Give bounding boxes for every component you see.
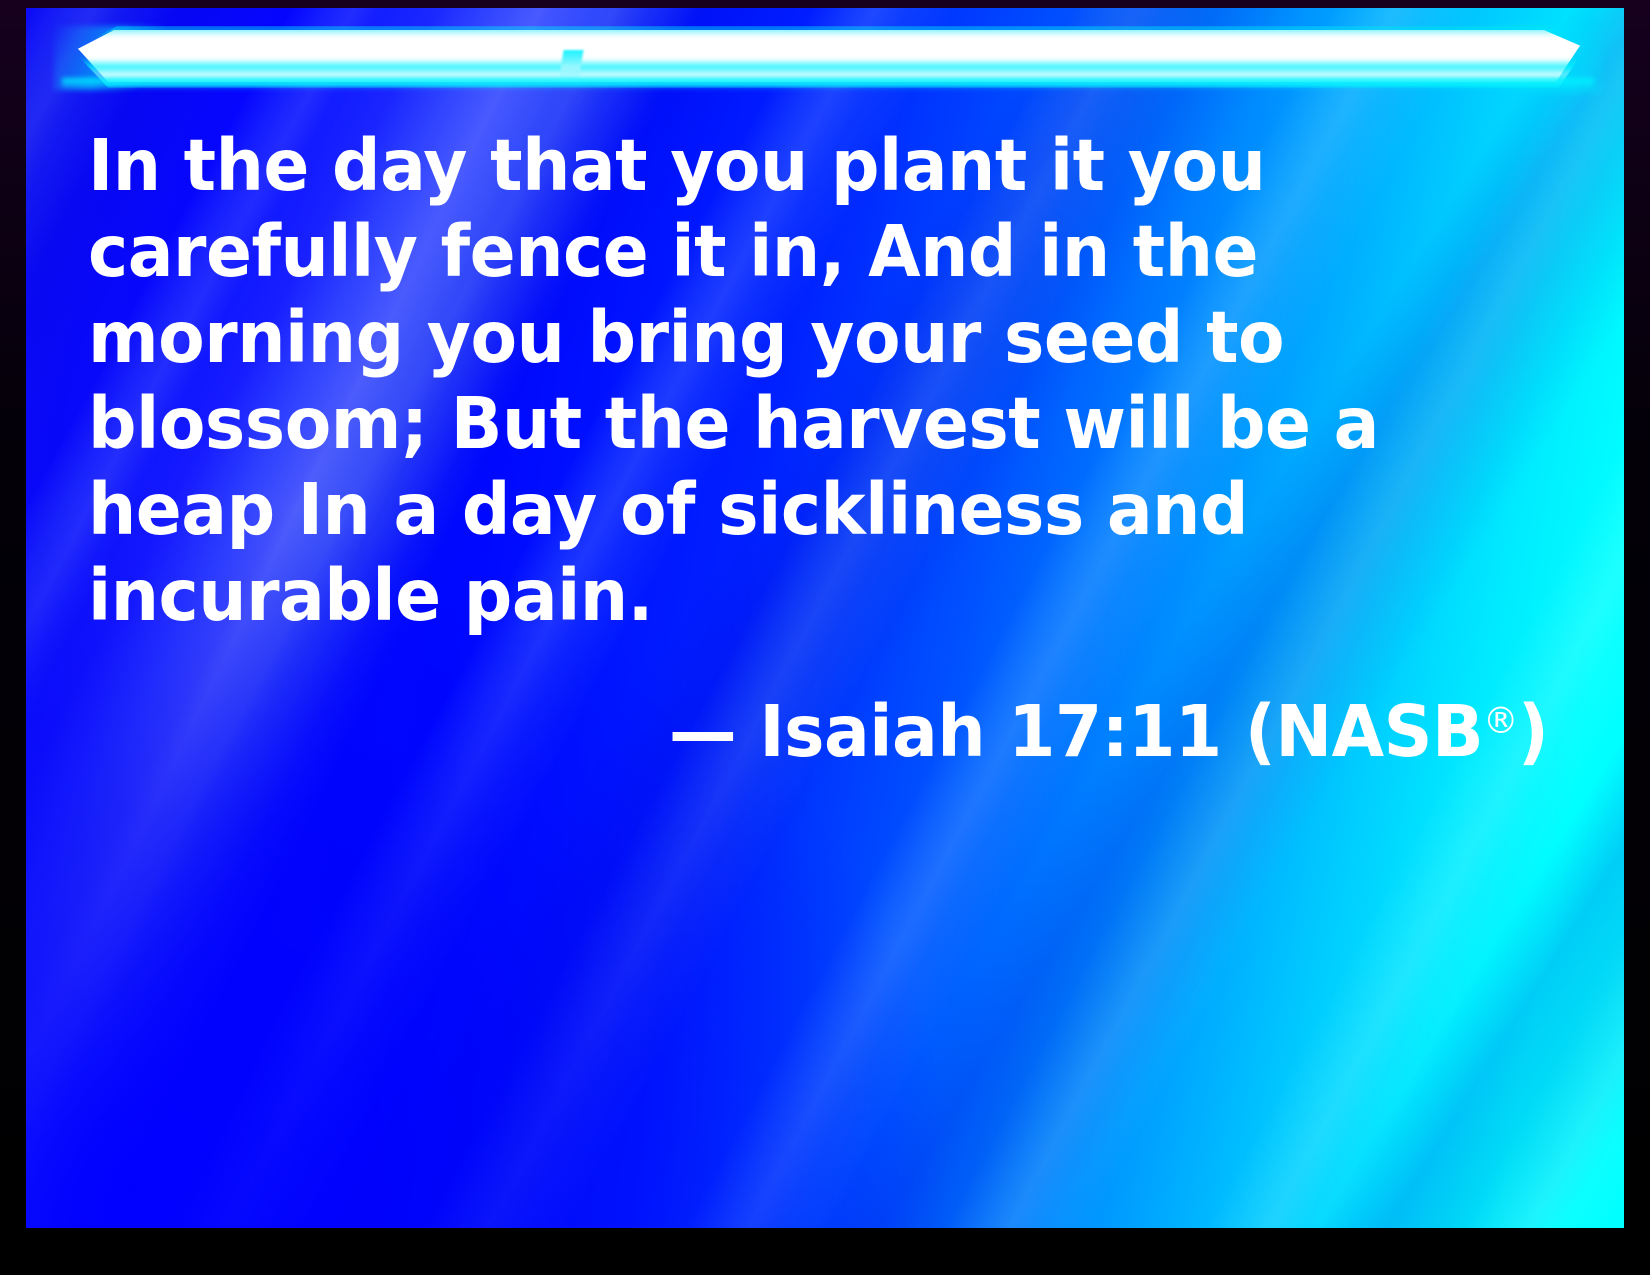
slide-canvas: In the day that you plant it you careful… [26,8,1624,1228]
verse-block: In the day that you plant it you careful… [88,123,1558,772]
citation-translation-open: (NASB [1222,690,1483,773]
verse-citation: — Isaiah 17:11 (NASB®) [154,681,1558,772]
citation-translation-close: ) [1518,690,1549,773]
citation-reference: Isaiah 17:11 [759,690,1221,773]
scripture-slide: In the day that you plant it you careful… [0,0,1650,1275]
band-underglow [62,78,1594,90]
citation-em-dash: — [669,690,736,773]
top-glow-band [26,8,1624,94]
verse-body-text: In the day that you plant it you careful… [88,123,1492,639]
registered-trademark-icon: ® [1483,699,1518,742]
